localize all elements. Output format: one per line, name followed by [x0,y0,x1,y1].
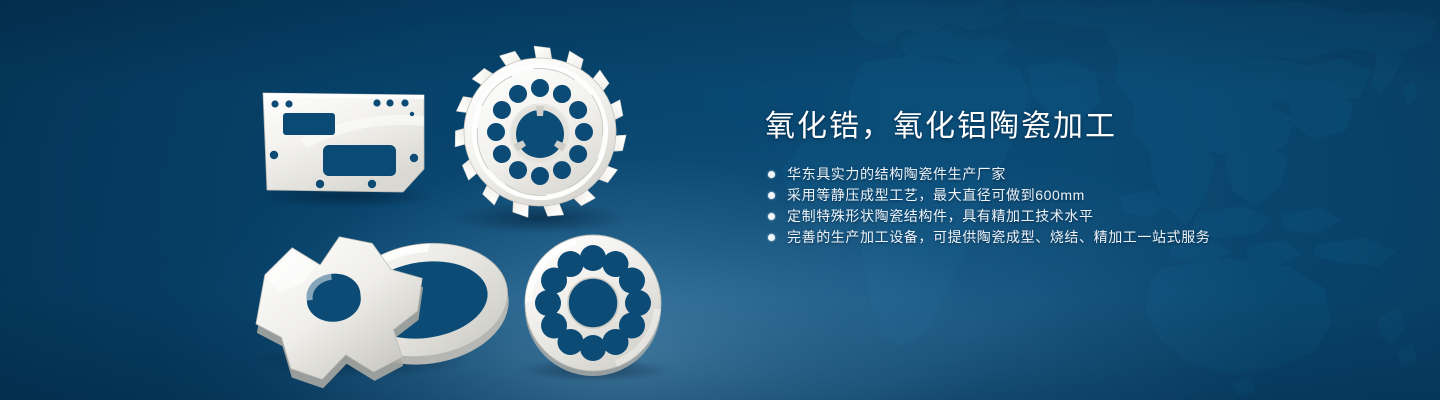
product-photo-group [0,0,760,400]
feature-list-item-label: 完善的生产加工设备，可提供陶瓷成型、烧结、精加工一站式服务 [787,229,1210,245]
feature-list-item-label: 采用等静压成型工艺，最大直径可做到600mm [787,187,1085,203]
feature-list-item: 完善的生产加工设备，可提供陶瓷成型、烧结、精加工一站式服务 [765,227,1385,248]
feature-list-item-label: 定制特殊形状陶瓷结构件，具有精加工技术水平 [787,208,1094,224]
banner-copy-block: 氧化锆，氧化铝陶瓷加工 华东具实力的结构陶瓷件生产厂家 采用等静压成型工艺，最大… [765,108,1385,248]
feature-list-item: 华东具实力的结构陶瓷件生产厂家 [765,164,1385,185]
feature-list-item-label: 华东具实力的结构陶瓷件生产厂家 [787,166,1006,182]
feature-list-item: 定制特殊形状陶瓷结构件，具有精加工技术水平 [765,206,1385,227]
bullet-dot-icon [768,234,775,241]
banner-headline: 氧化锆，氧化铝陶瓷加工 [765,108,1385,146]
ceramic-flat-plate-shape [263,93,424,192]
feature-list-item: 采用等静压成型工艺，最大直径可做到600mm [765,185,1385,206]
hero-banner: 氧化锆，氧化铝陶瓷加工 华东具实力的结构陶瓷件生产厂家 采用等静压成型工艺，最大… [0,0,1440,400]
bullet-dot-icon [768,213,775,220]
ceramic-perforated-disc-shape [525,235,661,376]
ceramic-impeller-shape [453,46,626,219]
bullet-dot-icon [768,192,775,199]
bullet-dot-icon [768,171,775,178]
banner-feature-list: 华东具实力的结构陶瓷件生产厂家 采用等静压成型工艺，最大直径可做到600mm 定… [765,164,1385,248]
